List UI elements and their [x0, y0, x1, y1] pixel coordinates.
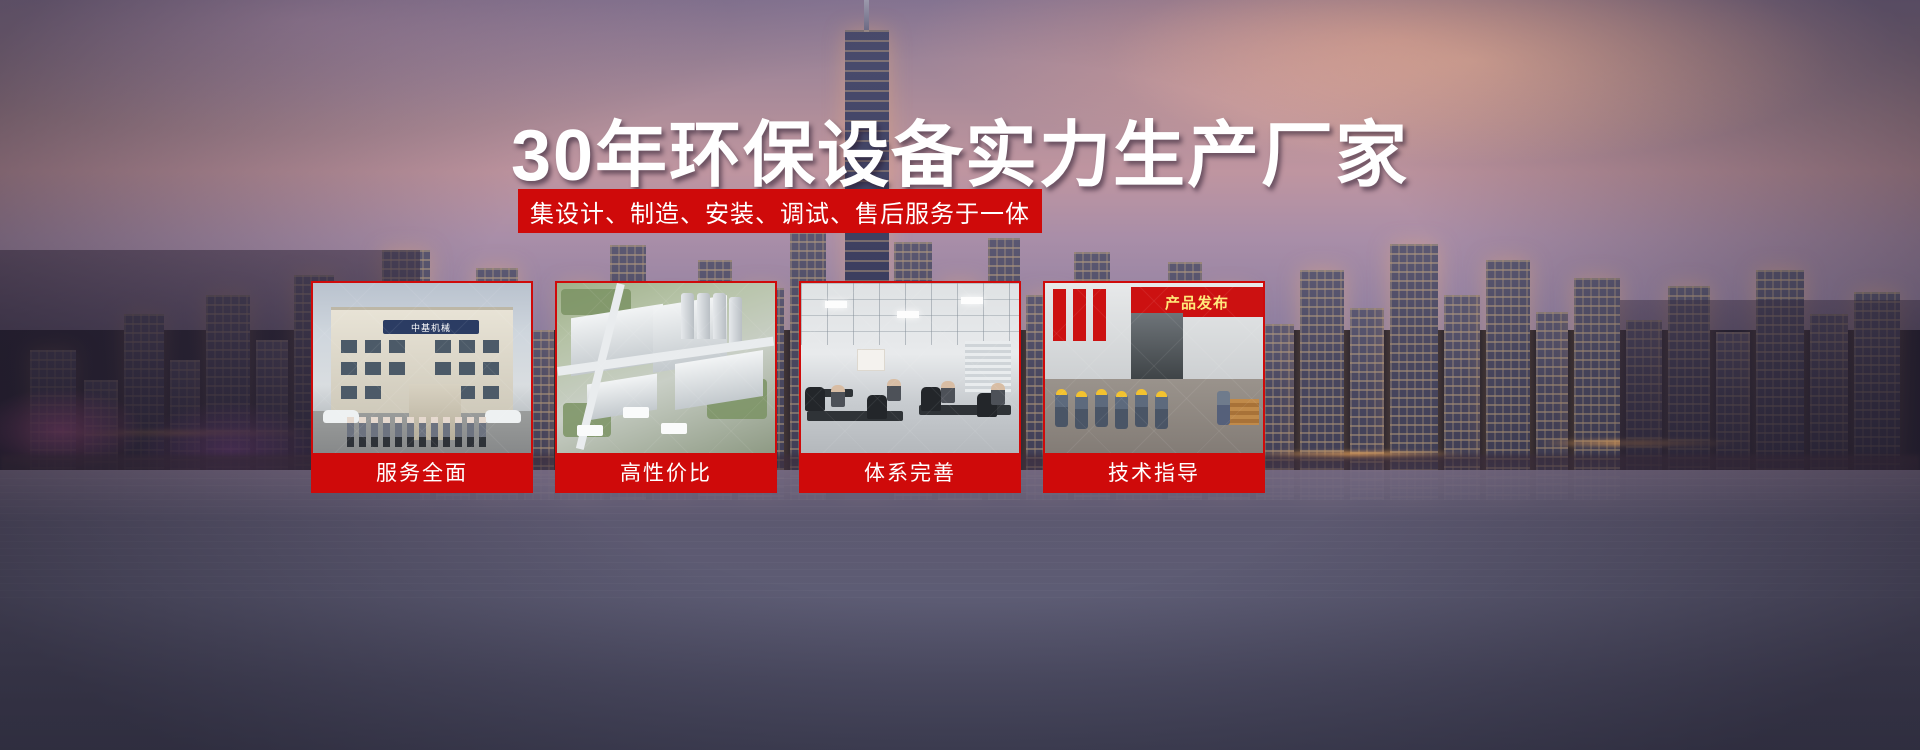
card-caption-system: 体系完善	[801, 453, 1019, 491]
card-photo-office-building: 中基机械	[313, 283, 531, 453]
card-photo-office-interior	[801, 283, 1019, 453]
card-photo-plant-aerial	[557, 283, 775, 453]
feature-card-service[interactable]: 中基机械	[311, 281, 533, 493]
card-caption-guidance: 技术指导	[1045, 453, 1263, 491]
building-sign-label: 中基机械	[383, 320, 479, 334]
subtitle-badge: 集设计、制造、安装、调试、售后服务于一体	[518, 189, 1042, 233]
feature-card-value[interactable]: 高性价比	[555, 281, 777, 493]
card-photo-workshop: 产品发布	[1045, 283, 1263, 453]
subtitle-text: 集设计、制造、安装、调试、售后服务于一体	[530, 194, 1030, 229]
feature-card-list: 中基机械	[311, 281, 1559, 493]
card-caption-service: 服务全面	[313, 453, 531, 491]
page-title: 30年环保设备实力生产厂家	[0, 96, 1920, 201]
hero-banner: 30年环保设备实力生产厂家 集设计、制造、安装、调试、售后服务于一体 中基机械	[0, 0, 1920, 750]
card-caption-value: 高性价比	[557, 453, 775, 491]
feature-card-system[interactable]: 体系完善	[799, 281, 1021, 493]
feature-card-guidance[interactable]: 产品发布 技术	[1043, 281, 1265, 493]
water-reflection	[0, 478, 1920, 598]
